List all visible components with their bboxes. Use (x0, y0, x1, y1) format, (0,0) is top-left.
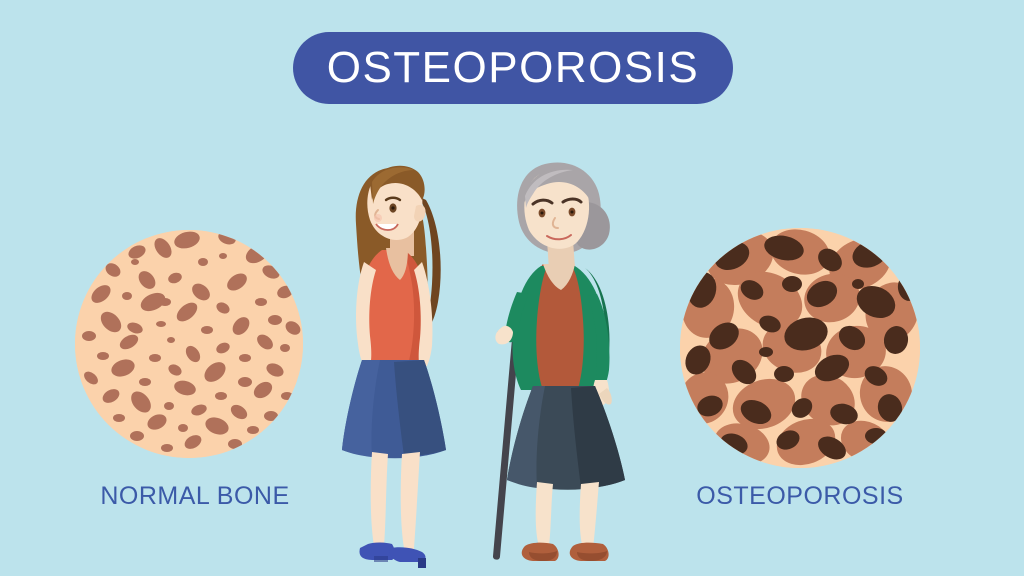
infographic-canvas: OSTEOPOROSIS (0, 0, 1024, 576)
elderly-woman-figure (485, 142, 660, 568)
normal-bone-illustration (75, 230, 303, 458)
title-text: OSTEOPOROSIS (327, 46, 700, 90)
young-woman-figure (330, 138, 480, 568)
osteoporosis-bone-illustration (680, 228, 920, 468)
title-banner: OSTEOPOROSIS (293, 32, 733, 104)
normal-bone-caption: NORMAL BONE (60, 482, 330, 511)
osteoporosis-bone-caption: OSTEOPOROSIS (665, 482, 935, 511)
